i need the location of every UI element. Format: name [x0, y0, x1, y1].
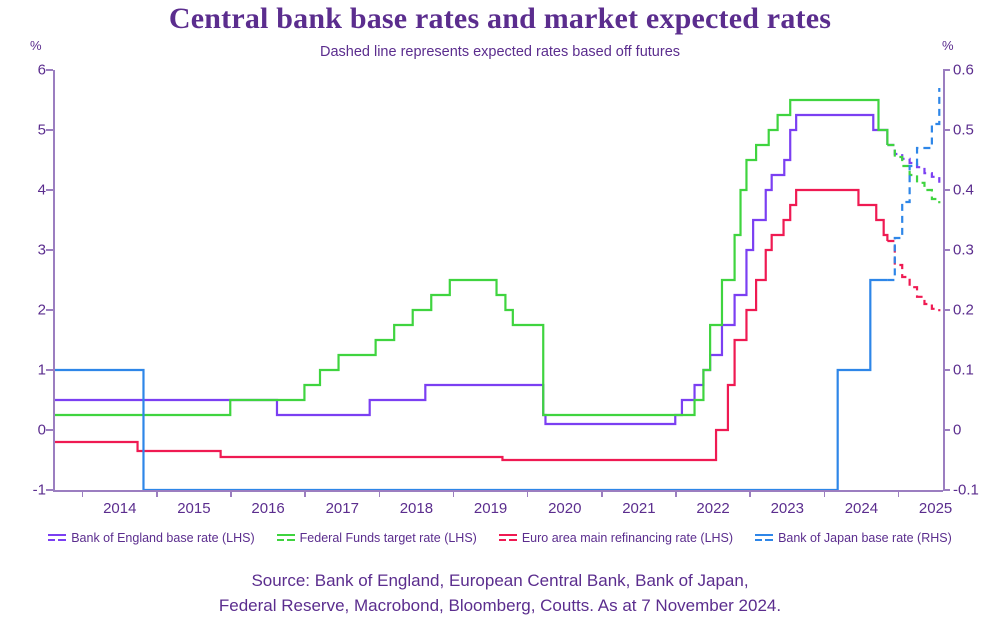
- plot-area: [53, 70, 943, 490]
- chart-legend: Bank of England base rate (LHS)Federal F…: [0, 531, 1000, 545]
- dashed-line-swatch: [499, 533, 517, 544]
- series-0: [53, 115, 939, 424]
- left-axis-tick-label-3: 3: [6, 242, 46, 259]
- x-axis-tick-label-8: 2022: [678, 500, 748, 517]
- legend-item-0[interactable]: Bank of England base rate (LHS): [48, 531, 254, 545]
- series-line-expected-2: [887, 241, 939, 311]
- right-axis-tick-label-1: 0.5: [953, 122, 1000, 139]
- series-2: [53, 190, 939, 460]
- source-note: Source: Bank of England, European Centra…: [0, 568, 1000, 618]
- series-canvas: [53, 70, 943, 490]
- left-axis-tick-label-5: 1: [6, 362, 46, 379]
- right-axis-tick-label-2: 0.4: [953, 182, 1000, 199]
- right-axis-tickmark-6: [943, 429, 950, 431]
- right-axis-tick-label-7: -0.1: [953, 482, 1000, 499]
- x-axis-tickmark-1: [156, 490, 158, 497]
- left-axis-tickmark-4: [46, 309, 53, 311]
- left-axis-tickmark-0: [46, 69, 53, 71]
- chart-title: Central bank base rates and market expec…: [0, 2, 1000, 36]
- legend-item-3[interactable]: Bank of Japan base rate (RHS): [755, 531, 952, 545]
- x-axis-tickmark-9: [749, 490, 751, 497]
- left-axis-tickmark-7: [46, 489, 53, 491]
- x-axis-tick-label-5: 2019: [456, 500, 526, 517]
- chart-subtitle: Dashed line represents expected rates ba…: [0, 44, 1000, 60]
- x-axis-tick-label-9: 2023: [752, 500, 822, 517]
- right-axis-tick-label-6: 0: [953, 422, 1000, 439]
- x-axis-tick-label-7: 2021: [604, 500, 674, 517]
- left-axis-tick-label-2: 4: [6, 182, 46, 199]
- legend-item-1[interactable]: Federal Funds target rate (LHS): [277, 531, 477, 545]
- x-axis-tick-label-3: 2017: [307, 500, 377, 517]
- right-axis-tickmark-2: [943, 189, 950, 191]
- chart-root: Central bank base rates and market expec…: [0, 0, 1000, 627]
- x-axis-tickmark-2: [230, 490, 232, 497]
- x-axis-tick-label-6: 2020: [530, 500, 600, 517]
- right-axis-tickmark-7: [943, 489, 950, 491]
- left-axis-tick-label-1: 5: [6, 122, 46, 139]
- series-1: [53, 100, 939, 415]
- source-line-2: Federal Reserve, Macrobond, Bloomberg, C…: [0, 593, 1000, 618]
- dashed-line-swatch: [755, 533, 773, 544]
- x-axis-tick-label-11: 2025: [901, 500, 971, 517]
- x-axis-line: [53, 490, 943, 492]
- right-axis-tickmark-1: [943, 129, 950, 131]
- right-axis-unit-label: %: [942, 38, 954, 53]
- x-axis-tick-label-2: 2016: [233, 500, 303, 517]
- left-axis-tickmark-2: [46, 189, 53, 191]
- x-axis-tickmark-11: [898, 490, 900, 497]
- dashed-line-swatch: [277, 533, 295, 544]
- left-axis-tickmark-6: [46, 429, 53, 431]
- x-axis-tickmark-3: [304, 490, 306, 497]
- x-axis-tickmark-5: [453, 490, 455, 497]
- right-axis-tickmark-5: [943, 369, 950, 371]
- source-line-1: Source: Bank of England, European Centra…: [0, 568, 1000, 593]
- legend-item-label: Bank of England base rate (LHS): [71, 531, 254, 545]
- left-axis-tickmark-5: [46, 369, 53, 371]
- x-axis-tick-label-10: 2024: [826, 500, 896, 517]
- x-axis-tick-label-4: 2018: [381, 500, 451, 517]
- left-axis-tick-label-7: -1: [6, 482, 46, 499]
- left-axis-tick-label-0: 6: [6, 62, 46, 79]
- x-axis-tick-label-0: 2014: [85, 500, 155, 517]
- right-axis-tick-label-3: 0.3: [953, 242, 1000, 259]
- right-axis-line: [943, 70, 945, 490]
- right-axis-tick-label-0: 0.6: [953, 62, 1000, 79]
- right-axis-tickmark-0: [943, 69, 950, 71]
- right-axis-tickmark-3: [943, 249, 950, 251]
- legend-item-label: Federal Funds target rate (LHS): [300, 531, 477, 545]
- left-axis-tick-label-4: 2: [6, 302, 46, 319]
- x-axis-tickmark-10: [824, 490, 826, 497]
- right-axis-tickmark-4: [943, 309, 950, 311]
- right-axis-tick-label-4: 0.2: [953, 302, 1000, 319]
- legend-item-label: Euro area main refinancing rate (LHS): [522, 531, 733, 545]
- legend-item-label: Bank of Japan base rate (RHS): [778, 531, 952, 545]
- x-axis-tickmark-4: [379, 490, 381, 497]
- legend-item-2[interactable]: Euro area main refinancing rate (LHS): [499, 531, 733, 545]
- left-axis-tickmark-3: [46, 249, 53, 251]
- dashed-line-swatch: [48, 533, 66, 544]
- x-axis-tickmark-6: [527, 490, 529, 497]
- right-axis-tick-label-5: 0.1: [953, 362, 1000, 379]
- left-axis-unit-label: %: [30, 38, 42, 53]
- x-axis-tickmark-0: [82, 490, 84, 497]
- x-axis-tickmark-7: [601, 490, 603, 497]
- x-axis-tick-label-1: 2015: [159, 500, 229, 517]
- left-axis-tick-label-6: 0: [6, 422, 46, 439]
- x-axis-tickmark-8: [675, 490, 677, 497]
- left-axis-line: [53, 70, 55, 490]
- series-line-actual-2: [53, 190, 887, 460]
- series-line-expected-3: [887, 88, 939, 280]
- left-axis-tickmark-1: [46, 129, 53, 131]
- series-line-actual-0: [53, 115, 887, 424]
- series-line-actual-1: [53, 100, 887, 415]
